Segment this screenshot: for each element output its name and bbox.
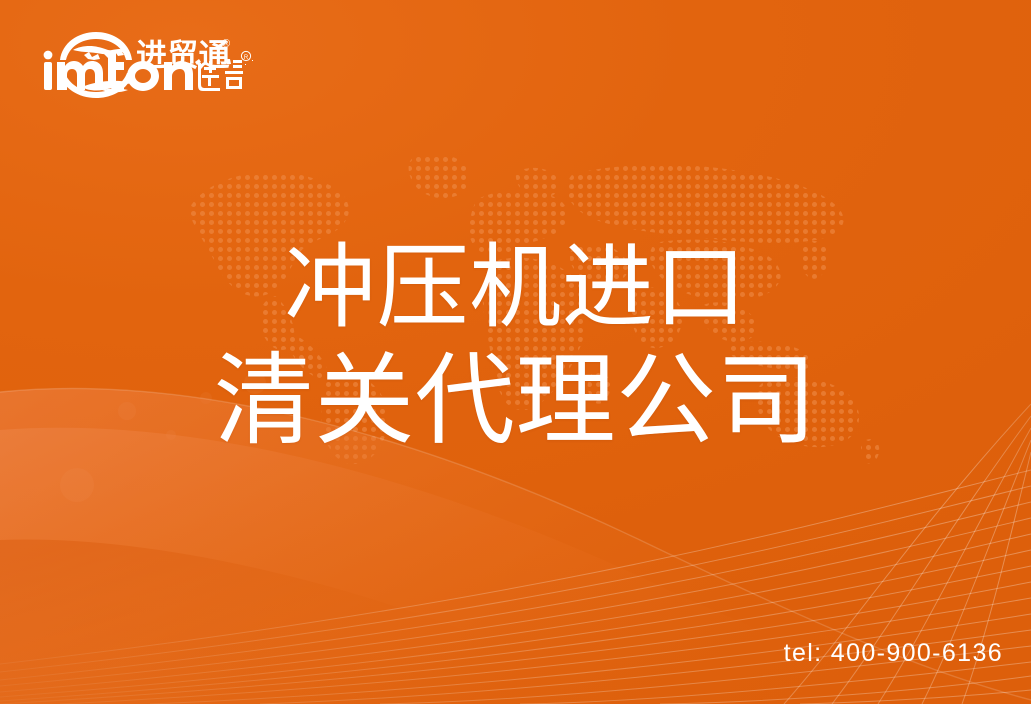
headline-line-1: 冲压机进口 xyxy=(0,236,1031,339)
svg-text:R: R xyxy=(244,55,249,61)
headline-block: 冲压机进口 清关代理公司 xyxy=(0,236,1031,457)
headline-line-2: 清关代理公司 xyxy=(0,345,1031,457)
logo-trademark-symbol: ® xyxy=(222,38,230,50)
promotional-banner: R 进贸通 ® 冲压机进口 清关代理公司 tel: 400-900-6136 xyxy=(0,0,1031,704)
contact-phone: tel: 400-900-6136 xyxy=(784,639,1003,668)
logo-chinese-name: 进贸通 xyxy=(136,41,230,72)
